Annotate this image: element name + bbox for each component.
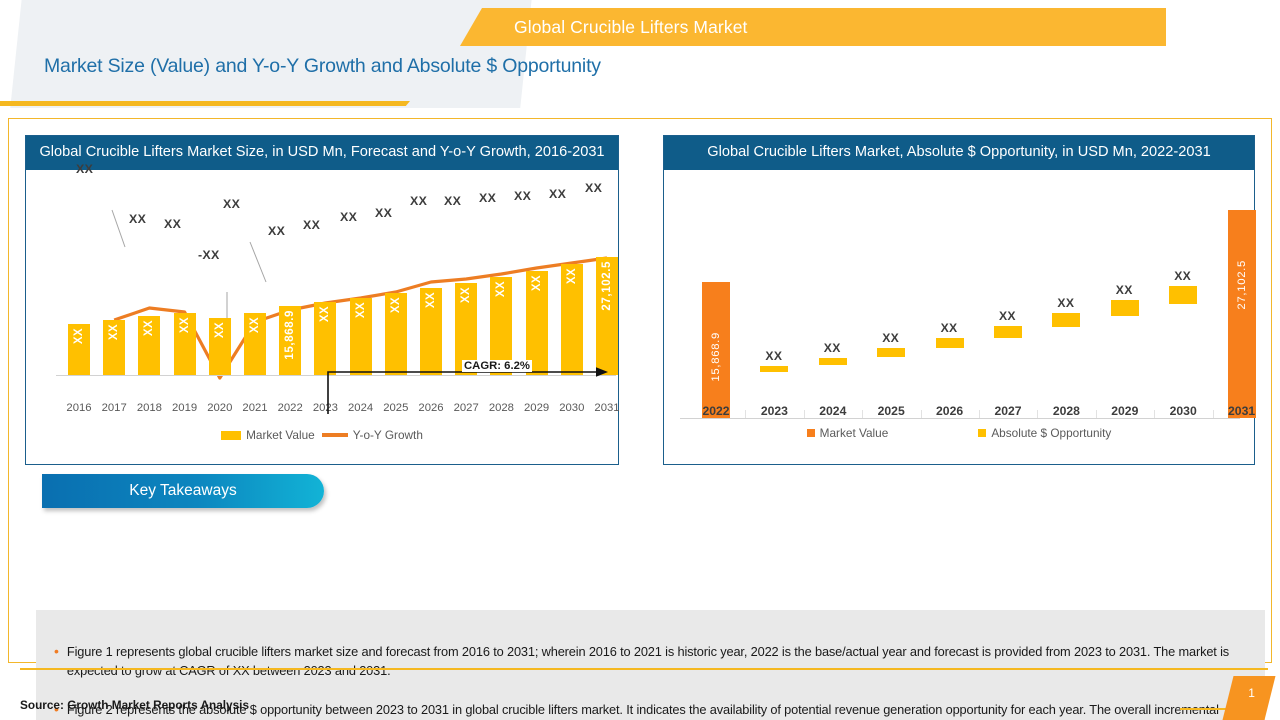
bar-value-label: XX: [143, 320, 155, 336]
bar-value-label: XX: [495, 281, 507, 297]
legend-item-yoy-growth: Y-o-Y Growth: [322, 428, 423, 442]
growth-value-label: XX: [223, 197, 240, 211]
growth-value-label: XX: [129, 212, 146, 226]
x-axis-absolute-opportunity: 2022202320242025202620272028202920302031: [664, 404, 1254, 424]
x-tick-label: 2018: [132, 402, 166, 414]
bar-market-value: XX: [385, 293, 407, 375]
x-tick-label: 2021: [238, 402, 272, 414]
bar-value-label: XX: [355, 302, 367, 318]
header-banner: Global Crucible Lifters Market: [460, 8, 1166, 46]
bar-value-label: 15,868.9: [284, 310, 296, 360]
legend-swatch-icon: [221, 431, 241, 440]
bar-value-label: XX: [249, 317, 261, 333]
bar-market-value: XX: [68, 324, 90, 375]
legend-item-absolute-opportunity: Absolute $ Opportunity: [978, 426, 1111, 440]
x-tick-label: 2024: [805, 404, 861, 418]
bar-absolute-opportunity: [819, 358, 847, 365]
bar-value-label: XX: [179, 317, 191, 333]
bar-value-label: XX: [425, 292, 437, 308]
legend-item-market-value: Market Value: [221, 428, 315, 442]
leader-line: [250, 242, 266, 282]
growth-value-label: -XX: [198, 248, 220, 262]
chart-panel-market-size: Global Crucible Lifters Market Size, in …: [25, 135, 619, 465]
key-takeaway-bullet: •Figure 1 represents global crucible lif…: [51, 643, 1263, 680]
x-tick-label: 2029: [1097, 404, 1153, 418]
bar-absolute-opportunity: [936, 338, 964, 348]
legend-square-icon: [807, 429, 815, 437]
bar-market-value: XX: [209, 318, 231, 375]
x-tick-label: 2022: [688, 404, 744, 418]
bar-value-label: XX: [882, 331, 899, 345]
x-tick-label: 2016: [62, 402, 96, 414]
bar-market-value: XX: [244, 313, 266, 375]
plot-area-absolute-opportunity: 15,868.9XXXXXXXXXXXXXXXX27,102.5: [664, 170, 1254, 402]
x-tick-label: 2026: [922, 404, 978, 418]
chart-body-market-size: XXXXXXXXXXXX15,868.9XXXXXXXXXXXXXXXX27,1…: [26, 170, 618, 445]
bar-market-value: 15,868.9: [702, 282, 730, 418]
growth-value-label: XX: [268, 224, 285, 238]
legend-label-yoy-growth: Y-o-Y Growth: [353, 428, 423, 442]
bar-market-value: XX: [103, 320, 125, 375]
bar-value-label: XX: [824, 341, 841, 355]
legend-market-size: Market Value Y-o-Y Growth: [26, 428, 618, 442]
bar-value-label: XX: [1116, 283, 1133, 297]
chart-title-absolute-opportunity: Global Crucible Lifters Market, Absolute…: [664, 136, 1254, 170]
source-note: Source: Growth Market Reports Analysis: [20, 698, 249, 712]
content-container: Global Crucible Lifters Market Size, in …: [8, 118, 1272, 663]
cagr-label: CAGR: 6.2%: [462, 360, 532, 372]
growth-value-label: XX: [410, 194, 427, 208]
x-tick-label: 2017: [97, 402, 131, 414]
bar-value-label: XX: [108, 324, 120, 340]
x-tick-label: 2030: [1155, 404, 1211, 418]
growth-value-label: XX: [375, 206, 392, 220]
cagr-annotation: CAGR: 6.2%: [324, 366, 614, 416]
x-tick-label: 2027: [980, 404, 1036, 418]
growth-value-label: XX: [76, 162, 93, 176]
x-tick-label: 2023: [746, 404, 802, 418]
bar-market-value: XX: [350, 298, 372, 375]
bar-market-value: 27,102.5: [596, 257, 618, 375]
growth-value-label: XX: [585, 181, 602, 195]
key-takeaway-text: Figure 1 represents global crucible lift…: [67, 643, 1263, 680]
bar-market-value: 27,102.5: [1228, 210, 1256, 418]
bar-value-label: XX: [941, 321, 958, 335]
bar-market-value: XX: [420, 288, 442, 375]
bar-market-value: XX: [561, 264, 583, 375]
chart-panel-absolute-opportunity: Global Crucible Lifters Market, Absolute…: [663, 135, 1255, 465]
bar-absolute-opportunity: [877, 348, 905, 357]
chart-title-market-size: Global Crucible Lifters Market Size, in …: [26, 136, 618, 170]
bullet-dot-icon: •: [51, 643, 59, 680]
growth-value-label: XX: [514, 189, 531, 203]
growth-value-label: XX: [549, 187, 566, 201]
bar-absolute-opportunity: [1111, 300, 1139, 316]
header-banner-title: Global Crucible Lifters Market: [514, 17, 748, 38]
x-tick-label: 2020: [203, 402, 237, 414]
bar-value-label: XX: [765, 349, 782, 363]
x-tick-label: 2025: [863, 404, 919, 418]
page-title: Market Size (Value) and Y-o-Y Growth and…: [44, 55, 601, 78]
leader-line: [112, 210, 125, 247]
bar-value-label: XX: [390, 297, 402, 313]
bar-value-label: 27,102.5: [601, 261, 613, 311]
growth-value-label: XX: [479, 191, 496, 205]
bar-value-label: XX: [73, 328, 85, 344]
x-tick-label: 2022: [273, 402, 307, 414]
bar-absolute-opportunity: [994, 326, 1022, 338]
background-shape-top: [10, 0, 532, 108]
footer-divider: [20, 668, 1268, 670]
key-takeaways-label: Key Takeaways: [129, 482, 236, 500]
legend-square-icon: [978, 429, 986, 437]
x-tick-label: 2031: [1214, 404, 1270, 418]
bar-value-label: XX: [999, 309, 1016, 323]
chart-body-absolute-opportunity: 15,868.9XXXXXXXXXXXXXXXX27,102.5 2022202…: [664, 170, 1254, 445]
bar-value-label: XX: [460, 287, 472, 303]
growth-value-label: XX: [164, 217, 181, 231]
bar-value-label: 27,102.5: [1236, 260, 1248, 310]
page-number-label: 1: [1248, 686, 1255, 700]
bar-value-label: XX: [319, 306, 331, 322]
legend-absolute-opportunity: Market Value Absolute $ Opportunity: [664, 426, 1254, 440]
bar-value-label: XX: [531, 275, 543, 291]
legend-label-absolute-opportunity: Absolute $ Opportunity: [991, 426, 1111, 440]
bar-market-value: XX: [174, 313, 196, 375]
bar-value-label: XX: [566, 268, 578, 284]
bar-market-value: 15,868.9: [279, 306, 301, 375]
legend-line-icon: [322, 433, 348, 436]
bar-absolute-opportunity: [1052, 313, 1080, 327]
key-takeaways-banner: Key Takeaways: [42, 474, 324, 508]
title-underline: [0, 101, 410, 106]
growth-value-label: XX: [444, 194, 461, 208]
legend-label-market-value: Market Value: [246, 428, 315, 442]
bar-value-label: XX: [1174, 269, 1191, 283]
bar-value-label: XX: [1057, 296, 1074, 310]
legend-label-market-value-r: Market Value: [820, 426, 889, 440]
x-tick-label: 2019: [168, 402, 202, 414]
slide-canvas: Global Crucible Lifters Market Market Si…: [0, 0, 1280, 720]
x-tick-label: 2028: [1038, 404, 1094, 418]
bar-market-value: XX: [138, 316, 160, 375]
bar-value-label: XX: [214, 322, 226, 338]
legend-item-market-value-r: Market Value: [807, 426, 889, 440]
cagr-arrow-icon: [324, 366, 614, 416]
bar-market-value: XX: [314, 302, 336, 375]
bar-value-label: 15,868.9: [710, 332, 722, 382]
growth-value-label: XX: [340, 210, 357, 224]
bar-absolute-opportunity: [1169, 286, 1197, 304]
bar-absolute-opportunity: [760, 366, 788, 372]
growth-value-label: XX: [303, 218, 320, 232]
